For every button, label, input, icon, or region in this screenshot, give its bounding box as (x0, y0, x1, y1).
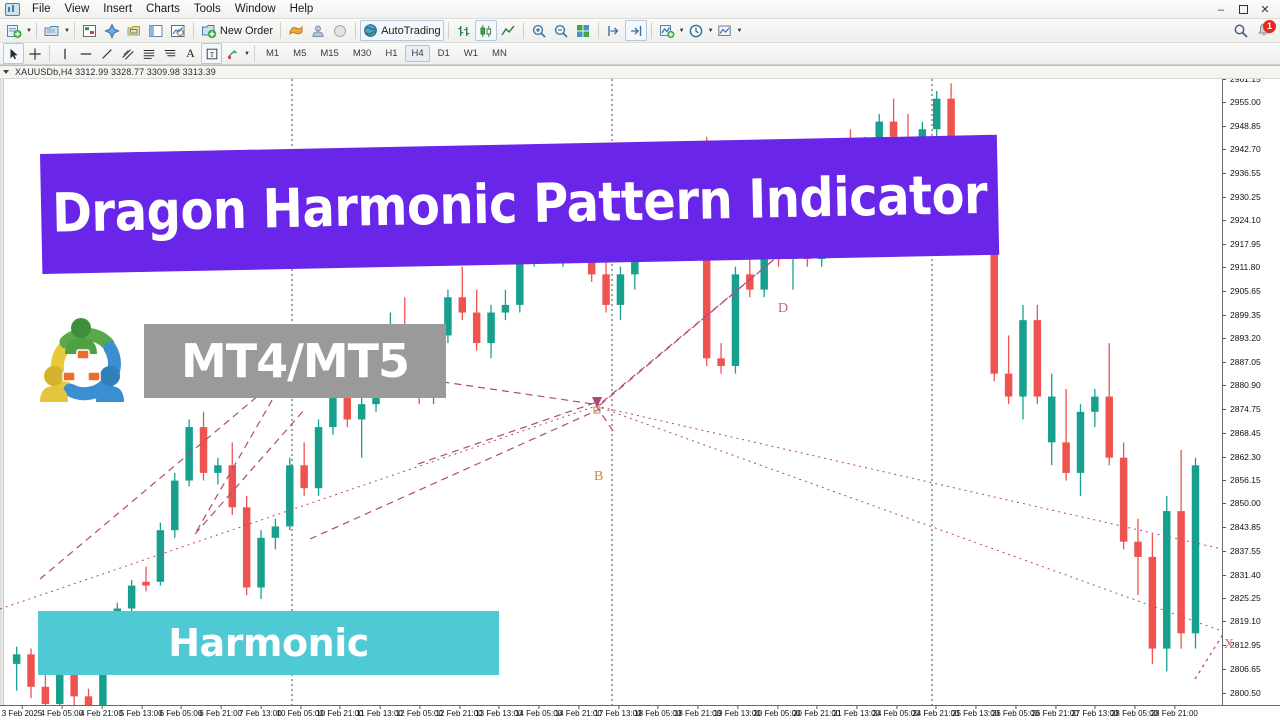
candle-body (27, 654, 34, 686)
time-axis-tick: 5 Feb 13:00 (120, 709, 163, 718)
price-axis-tick: 2917.95 (1223, 239, 1280, 249)
trendline-icon[interactable] (96, 43, 117, 64)
candle-body (243, 507, 250, 587)
price-axis-tick: 2843.85 (1223, 522, 1280, 532)
harmonic-leg (0, 406, 596, 609)
candle-body (42, 687, 49, 704)
toolbar-separator (254, 45, 255, 62)
candlestick-chart-icon[interactable] (475, 20, 497, 41)
platform-badge: MT4/MT5 (144, 324, 446, 398)
notifications-bell-icon[interactable]: 1 (1256, 22, 1274, 40)
price-axis-tick: 2899.35 (1223, 310, 1280, 320)
price-axis-tick: 2887.05 (1223, 357, 1280, 367)
menu-insert[interactable]: Insert (96, 1, 139, 17)
candle-body (1048, 397, 1055, 443)
candle-body (13, 654, 20, 664)
strategy-tester-icon[interactable] (167, 20, 189, 41)
toolbar-separator (193, 22, 194, 39)
candle-body (617, 274, 624, 305)
candle-body (732, 274, 739, 366)
mql5-community-icon[interactable] (307, 20, 329, 41)
candle-body (358, 404, 365, 419)
toolbar-separator (355, 22, 356, 39)
autotrading-button[interactable]: AutoTrading (360, 20, 444, 41)
harmonic-leg (418, 401, 600, 464)
price-axis-tick: 2936.55 (1223, 168, 1280, 178)
shapes-arrows-icon[interactable] (222, 43, 243, 64)
periods-clock-icon[interactable] (685, 20, 707, 41)
price-axis-tick: 2893.20 (1223, 333, 1280, 343)
toolbar-separator (49, 45, 50, 62)
bar-chart-icon[interactable] (453, 20, 475, 41)
time-axis-tick: 7 Feb 13:00 (239, 709, 282, 718)
main-toolbar: ▼ ▼ (0, 19, 1280, 43)
timeframe-h4[interactable]: H4 (405, 45, 429, 62)
candle-body (1149, 557, 1156, 649)
chart-symbol-header: XAUUSDb,H4 3312.99 3328.77 3309.98 3313.… (0, 66, 1280, 79)
harmonic-leg (596, 406, 1222, 549)
indicators-icon[interactable] (656, 20, 678, 41)
candle-body (142, 582, 149, 586)
data-window-icon[interactable] (123, 20, 145, 41)
candle-body (1091, 397, 1098, 412)
toolbar-separator (36, 22, 37, 39)
new-chart-icon[interactable] (3, 20, 25, 41)
platform-badge-text: MT4/MT5 (181, 334, 409, 388)
app-logo-icon (5, 2, 20, 16)
price-axis-tick: 2850.00 (1223, 498, 1280, 508)
mql5-community-logo-icon (38, 314, 130, 404)
price-axis-tick: 2905.65 (1223, 286, 1280, 296)
menu-bar: File View Insert Charts Tools Window Hel… (0, 0, 1280, 19)
harmonic-leg (600, 252, 783, 405)
candle-body (272, 526, 279, 537)
price-axis-tick: 2942.70 (1223, 144, 1280, 154)
price-axis[interactable]: 2961.152955.002948.852942.702936.552930.… (1222, 79, 1280, 705)
terminal-icon[interactable] (145, 20, 167, 41)
price-axis-tick: 2819.10 (1223, 616, 1280, 626)
toolbar-separator (280, 22, 281, 39)
candle-body (890, 122, 897, 137)
horizontal-line-icon[interactable] (75, 43, 96, 64)
line-chart-icon[interactable] (497, 20, 519, 41)
timeframe-h1[interactable]: H1 (379, 45, 403, 62)
toolbar-right-group: 1 (1233, 19, 1274, 43)
price-axis-tick: 2924.10 (1223, 215, 1280, 225)
candle-body (1120, 458, 1127, 542)
candle-body (487, 313, 494, 344)
fibonacci-retracement-icon[interactable] (138, 43, 159, 64)
time-axis-tick: 3 Feb 2025 (2, 709, 42, 718)
minimize-button[interactable]: – (1210, 1, 1232, 18)
chart-symbol-ohlc-label: XAUUSDb,H4 3312.99 3328.77 3309.98 3313.… (15, 67, 216, 77)
price-axis-tick: 2806.65 (1223, 664, 1280, 674)
harmonic-point-x-label: X (1224, 637, 1234, 653)
time-axis-tick: 4 Feb 21:00 (80, 709, 123, 718)
candle-body (128, 586, 135, 609)
menu-tools[interactable]: Tools (187, 1, 228, 17)
time-axis[interactable]: 3 Feb 20254 Feb 05:004 Feb 21:005 Feb 13… (0, 705, 1280, 720)
candle-body (214, 465, 221, 473)
candle-body (473, 313, 480, 344)
collapse-caret-icon[interactable] (3, 70, 9, 74)
vertical-line-icon[interactable] (54, 43, 75, 64)
candle-body (459, 297, 466, 312)
candle-body (933, 99, 940, 130)
market-watch-icon[interactable] (79, 20, 101, 41)
timeframe-w1[interactable]: W1 (458, 45, 484, 62)
candle-body (1019, 320, 1026, 396)
time-axis-tick: 6 Feb 21:00 (199, 709, 242, 718)
time-axis-tick: 28 Feb 21:00 (1151, 709, 1198, 718)
menu-window[interactable]: Window (228, 1, 283, 17)
harmonic-leg (596, 406, 1222, 634)
cursor-arrow-icon[interactable] (3, 43, 24, 64)
candle-body (300, 465, 307, 488)
menu-view[interactable]: View (58, 1, 97, 17)
price-axis-tick: 2911.80 (1223, 262, 1280, 272)
text-tool-icon[interactable]: A (180, 43, 201, 64)
templates-icon[interactable] (714, 20, 736, 41)
indicators-dropdown-caret-icon[interactable]: ▼ (679, 28, 685, 34)
harmonic-leg (597, 407, 613, 431)
title-banner: Dragon Harmonic Pattern Indicator (40, 135, 999, 274)
candle-body (1192, 465, 1199, 633)
time-axis-tick: 4 Feb 05:00 (40, 709, 83, 718)
price-axis-tick: 2868.45 (1223, 428, 1280, 438)
timeframe-d1[interactable]: D1 (432, 45, 456, 62)
harmonic-leg (600, 252, 783, 404)
harmonic-leg (310, 409, 600, 539)
time-axis-tick: 6 Feb 05:00 (160, 709, 203, 718)
price-axis-tick: 2862.30 (1223, 452, 1280, 462)
candle-body (1134, 542, 1141, 557)
restore-button[interactable] (1232, 1, 1254, 18)
shapes-dropdown-caret-icon[interactable]: ▼ (244, 51, 250, 57)
toolbar-separator (448, 22, 449, 39)
tools-timeframe-bar: A T ▼ M1 M5 M15 M30 H1 H4 D1 W1 MN (0, 43, 1280, 65)
new-order-label: New Order (220, 25, 273, 37)
price-axis-tick: 2955.00 (1223, 97, 1280, 107)
metatrader-window: File View Insert Charts Tools Window Hel… (0, 0, 1280, 720)
price-axis-tick: 2856.15 (1223, 475, 1280, 485)
toolbar-separator (523, 22, 524, 39)
chart-grid-icon[interactable] (572, 20, 594, 41)
timeframe-m1[interactable]: M1 (260, 45, 285, 62)
menu-charts[interactable]: Charts (139, 1, 187, 17)
timeframe-mn[interactable]: MN (486, 45, 513, 62)
candle-body (257, 538, 264, 588)
price-axis-tick: 2880.90 (1223, 380, 1280, 390)
candle-body (85, 696, 92, 705)
candle-body (502, 305, 509, 313)
candle-body (1105, 397, 1112, 458)
close-button[interactable]: ✕ (1254, 1, 1276, 18)
window-controls: – ✕ (1210, 0, 1276, 19)
price-axis-tick: 2825.25 (1223, 593, 1280, 603)
notifications-count-badge: 1 (1263, 20, 1276, 33)
navigator-icon[interactable] (101, 20, 123, 41)
price-axis-tick: 2800.50 (1223, 688, 1280, 698)
harmonic-badge-text: Harmonic (168, 621, 369, 665)
harmonic-point-b-label: B (594, 469, 603, 485)
timeframe-m5[interactable]: M5 (287, 45, 312, 62)
candle-body (1163, 511, 1170, 648)
timeframe-m30[interactable]: M30 (347, 45, 377, 62)
price-axis-tick: 2930.25 (1223, 192, 1280, 202)
candle-body (315, 427, 322, 488)
menu-help[interactable]: Help (283, 1, 321, 17)
candle-body (157, 530, 164, 582)
fibonacci-timezones-icon[interactable] (159, 43, 180, 64)
toolbar-separator (74, 22, 75, 39)
crosshair-icon[interactable] (24, 43, 45, 64)
zoom-out-icon[interactable] (550, 20, 572, 41)
harmonic-point-d-label: D (778, 301, 788, 317)
candle-body (1062, 442, 1069, 473)
candle-body (200, 427, 207, 473)
disabled-icon[interactable] (329, 20, 351, 41)
candle-body (171, 481, 178, 531)
equidistant-channel-icon[interactable] (117, 43, 138, 64)
harmonic-arrow (592, 397, 602, 408)
timeframe-m15[interactable]: M15 (314, 45, 344, 62)
zoom-in-icon[interactable] (528, 20, 550, 41)
templates-dropdown-caret-icon[interactable]: ▼ (737, 28, 743, 34)
toolbar-separator (651, 22, 652, 39)
price-axis-tick: 2948.85 (1223, 121, 1280, 131)
candle-body (286, 465, 293, 526)
autotrading-label: AutoTrading (381, 25, 441, 37)
text-label-icon[interactable]: T (201, 43, 222, 64)
expert-advisors-icon[interactable] (285, 20, 307, 41)
price-axis-tick: 2961.15 (1223, 79, 1280, 84)
harmonic-badge: Harmonic (38, 611, 499, 675)
profiles-dropdown-caret-icon[interactable]: ▼ (64, 28, 70, 34)
candle-body (1077, 412, 1084, 473)
candle-body (1005, 374, 1012, 397)
price-axis-tick: 2831.40 (1223, 570, 1280, 580)
title-banner-text: Dragon Harmonic Pattern Indicator (51, 164, 987, 245)
candle-body (717, 358, 724, 366)
scroll-to-end-icon[interactable] (603, 20, 625, 41)
chart-window: XAUUSDb,H4 3312.99 3328.77 3309.98 3313.… (0, 65, 1280, 720)
new-chart-dropdown-caret-icon[interactable]: ▼ (26, 28, 32, 34)
svg-text:T: T (209, 51, 214, 59)
price-axis-tick: 2837.55 (1223, 546, 1280, 556)
price-axis-tick: 2874.75 (1223, 404, 1280, 414)
candle-body (602, 274, 609, 305)
periods-dropdown-caret-icon[interactable]: ▼ (708, 28, 714, 34)
candle-body (1034, 320, 1041, 396)
toolbar-separator (598, 22, 599, 39)
candle-body (229, 465, 236, 507)
new-order-button[interactable]: New Order (198, 20, 276, 41)
search-icon[interactable] (1233, 23, 1249, 39)
chart-shift-icon[interactable] (625, 20, 647, 41)
menu-file[interactable]: File (25, 1, 58, 17)
profiles-icon[interactable] (41, 20, 63, 41)
